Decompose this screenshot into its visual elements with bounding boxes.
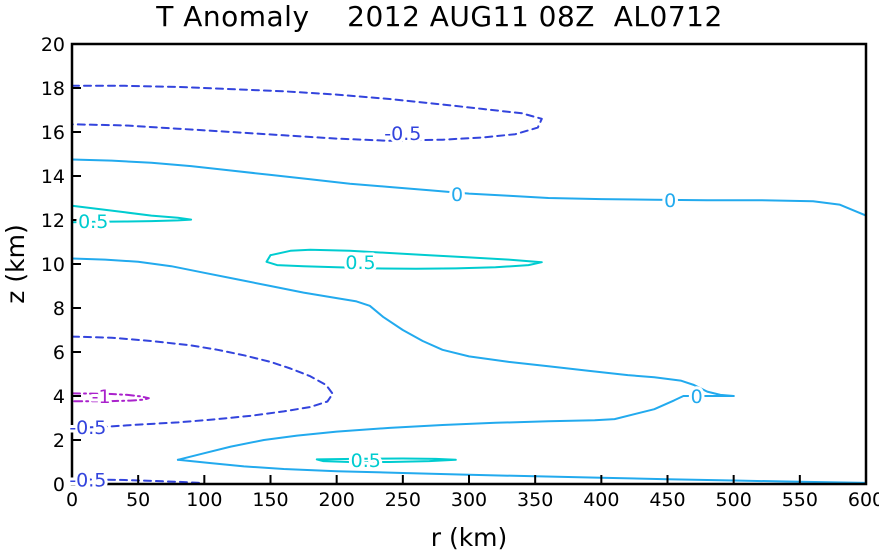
x-tick-label: 500: [716, 489, 752, 511]
contour-lower-cold-anomaly: [72, 337, 333, 428]
label-neg-one: -1: [92, 386, 111, 408]
y-tick-label: 14: [41, 166, 65, 188]
contour-low-warm-sliver: [317, 459, 456, 463]
x-tick-label: 150: [252, 489, 288, 511]
contour-lines-group: [72, 86, 866, 484]
y-tick-label: 2: [53, 430, 65, 452]
y-tick-label: 4: [53, 386, 65, 408]
x-tick-label: 450: [649, 489, 685, 511]
x-tick-label: 400: [583, 489, 619, 511]
contour-labels-group: -0.5-0.500000.50.50.50.5-1-1-0.5-0.50.50…: [69, 123, 702, 492]
y-axis-title: z (km): [1, 224, 30, 303]
contour-surface-zero-contour: [178, 460, 866, 483]
y-tick-label: 18: [41, 78, 65, 100]
y-tick-label: 0: [53, 474, 65, 496]
x-tick-label: 300: [451, 489, 487, 511]
x-tick-label: 50: [126, 489, 150, 511]
axis-frame-group: [72, 44, 866, 484]
y-tick-label: 8: [53, 298, 65, 320]
x-tick-label: 0: [66, 489, 78, 511]
label-left-half: 0.5: [78, 211, 108, 233]
label-upper-neg-half: -0.5: [384, 123, 421, 145]
label-upper-zero-a: 0: [451, 184, 463, 206]
x-axis-title: r (km): [431, 523, 508, 552]
contour-mid-warm-anomaly-closed: [267, 250, 542, 269]
x-tick-label: 350: [517, 489, 553, 511]
label-lower-zero: 0: [691, 386, 703, 408]
x-tick-label: 200: [319, 489, 355, 511]
contour-plot-figure: T Anomaly 2012 AUG11 08Z AL0712 05010015…: [0, 0, 879, 559]
y-tick-label: 6: [53, 342, 65, 364]
label-upper-zero-b: 0: [664, 190, 676, 212]
plot-frame: [72, 44, 866, 484]
x-tick-label: 600: [848, 489, 879, 511]
label-mid-half: 0.5: [345, 252, 375, 274]
plot-canvas: 0501001502002503003504004505005506000246…: [0, 0, 879, 559]
y-tick-label: 10: [41, 254, 65, 276]
y-tick-label: 20: [41, 34, 65, 56]
contour-mid-zero-contour: [72, 259, 734, 397]
x-tick-label: 100: [186, 489, 222, 511]
label-low-half: 0.5: [351, 450, 381, 472]
y-tick-label: 12: [41, 210, 65, 232]
contour-upper-cold-anomaly-outer: [72, 86, 542, 141]
label-surface-neg-half: -0.5: [69, 470, 106, 492]
contour-upper-zero-contour: [72, 160, 866, 216]
label-lower-neg-half: -0.5: [69, 417, 106, 439]
y-tick-label: 16: [41, 122, 65, 144]
contour-lower-zero-contour: [178, 396, 734, 460]
x-tick-label: 550: [782, 489, 818, 511]
x-tick-label: 250: [385, 489, 421, 511]
